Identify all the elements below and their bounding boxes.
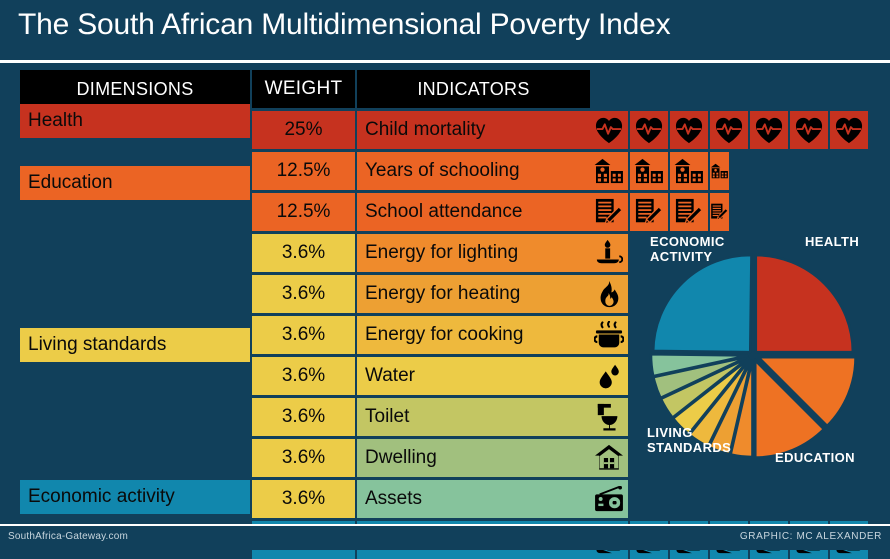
indicator-cell: Child mortality — [357, 111, 590, 149]
dimension-label: Health — [20, 104, 250, 138]
indicator-cell: Assets — [357, 480, 590, 518]
weight-cell: 12.5% — [252, 152, 355, 190]
weight-cell: 3.6% — [252, 275, 355, 313]
weight-cell: 12.5% — [252, 193, 355, 231]
pie-label-living-standards-line1: LIVING — [647, 425, 731, 440]
column-header-dimensions: DIMENSIONS — [20, 70, 250, 108]
pie-label-health: HEALTH — [805, 234, 859, 249]
indicator-cell: Toilet — [357, 398, 590, 436]
heart-pulse-icon — [590, 111, 628, 149]
icon-weight-strip — [590, 480, 628, 518]
pie-slice-health — [756, 255, 853, 352]
indicator-cell: School attendance — [357, 193, 590, 231]
school-building-icon — [630, 152, 668, 190]
heart-pulse-icon — [630, 111, 668, 149]
pie-label-economic-activity-line1: ECONOMIC — [650, 234, 725, 249]
column-header-indicators: INDICATORS — [357, 70, 590, 108]
dimension-label: Living standards — [20, 328, 250, 362]
indicator-cell: Energy for cooking — [357, 316, 590, 354]
pie-label-living-standards-line2: STANDARDS — [647, 440, 731, 455]
infographic-canvas: The South African Multidimensional Pover… — [0, 0, 890, 550]
school-building-icon — [590, 152, 628, 190]
indicator-cell: Energy for heating — [357, 275, 590, 313]
indicator-cell: Years of schooling — [357, 152, 590, 190]
heart-pulse-icon — [670, 111, 708, 149]
title-divider — [0, 60, 890, 63]
icon-weight-strip — [590, 111, 868, 149]
footer: SouthAfrica-Gateway.com GRAPHIC: MC ALEX… — [0, 526, 890, 550]
school-building-icon — [670, 152, 708, 190]
column-header-weight: WEIGHT — [252, 70, 355, 108]
indicator-cell: Water — [357, 357, 590, 395]
footer-source: SouthAfrica-Gateway.com — [8, 531, 128, 542]
dimension-label: Education — [20, 166, 250, 200]
pie-slice-economic-activity — [653, 255, 751, 352]
table-header-row: DIMENSIONS WEIGHT INDICATORS — [20, 70, 870, 108]
page-title: The South African Multidimensional Pover… — [18, 8, 670, 42]
weight-cell: 3.6% — [252, 480, 355, 518]
indicator-cell: Dwelling — [357, 439, 590, 477]
heart-pulse-icon — [750, 111, 788, 149]
weight-cell: 25% — [252, 111, 355, 149]
weight-cell: 3.6% — [252, 234, 355, 272]
weight-cell: 3.6% — [252, 398, 355, 436]
mpi-pie-chart: ECONOMIC ACTIVITY HEALTH LIVING STANDARD… — [620, 225, 890, 485]
weight-cell: 3.6% — [252, 439, 355, 477]
weight-cell: 3.6% — [252, 357, 355, 395]
pie-label-economic-activity-line2: ACTIVITY — [650, 249, 725, 264]
heart-pulse-icon — [710, 111, 748, 149]
radio-icon — [590, 480, 628, 518]
heart-pulse-icon — [830, 111, 868, 149]
school-building-icon — [710, 152, 729, 190]
footer-credit: GRAPHIC: MC ALEXANDER — [740, 531, 882, 542]
heart-pulse-icon — [790, 111, 828, 149]
weight-cell: 3.6% — [252, 316, 355, 354]
dimension-label: Economic activity — [20, 480, 250, 514]
pie-label-education: EDUCATION — [775, 450, 855, 465]
pie-label-living-standards: LIVING STANDARDS — [647, 425, 731, 455]
indicator-cell: Energy for lighting — [357, 234, 590, 272]
pie-label-economic-activity: ECONOMIC ACTIVITY — [650, 234, 725, 264]
icon-weight-strip — [590, 152, 729, 190]
